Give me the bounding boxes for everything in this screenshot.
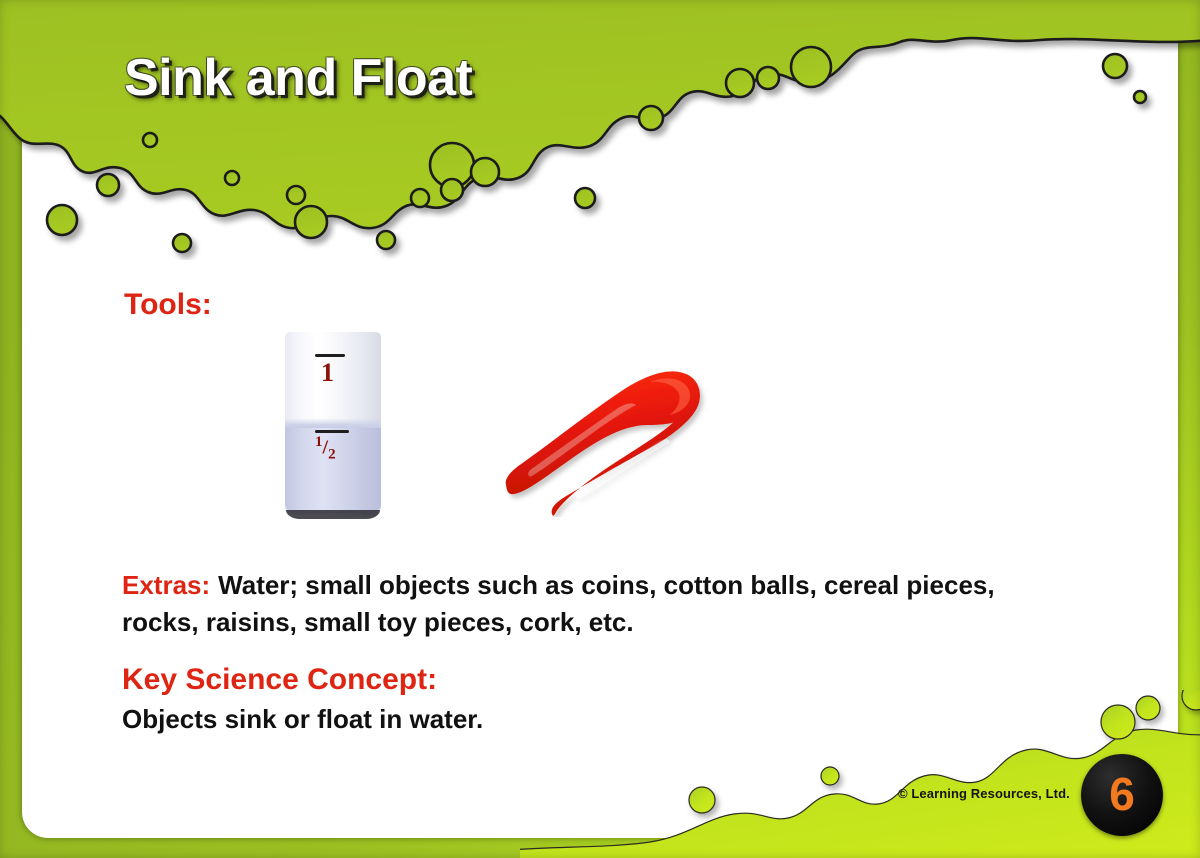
tools-label: Tools: [124, 288, 212, 322]
cup-mark-line-full [315, 354, 345, 357]
page-title: Sink and Float [124, 48, 472, 108]
activity-card: Sink and Float Tools: 1 1/2 [0, 0, 1200, 858]
tweezers-illustration [500, 352, 710, 517]
extras-text: Water; small objects such as coins, cott… [122, 570, 995, 637]
cup-mark-label-half: 1/2 [315, 434, 336, 464]
page-number: 6 [1109, 771, 1135, 817]
half-numerator: 1 [315, 434, 323, 450]
extras-section: Extras:Water; small objects such as coin… [122, 567, 1022, 641]
copyright-notice: © Learning Resources, Ltd. [898, 786, 1070, 801]
key-science-concept-text: Objects sink or float in water. [122, 704, 483, 735]
half-denominator: 2 [328, 447, 336, 463]
page-number-badge: 6 [1081, 754, 1163, 836]
key-science-concept-label: Key Science Concept: [122, 663, 437, 697]
cup-mark-line-half [315, 430, 349, 433]
cup-liquid-surface [285, 418, 381, 428]
extras-label: Extras: [122, 570, 210, 600]
cup-base [286, 510, 380, 519]
cup-mark-label-full: 1 [321, 358, 334, 388]
measuring-cup-illustration: 1 1/2 [285, 332, 381, 517]
